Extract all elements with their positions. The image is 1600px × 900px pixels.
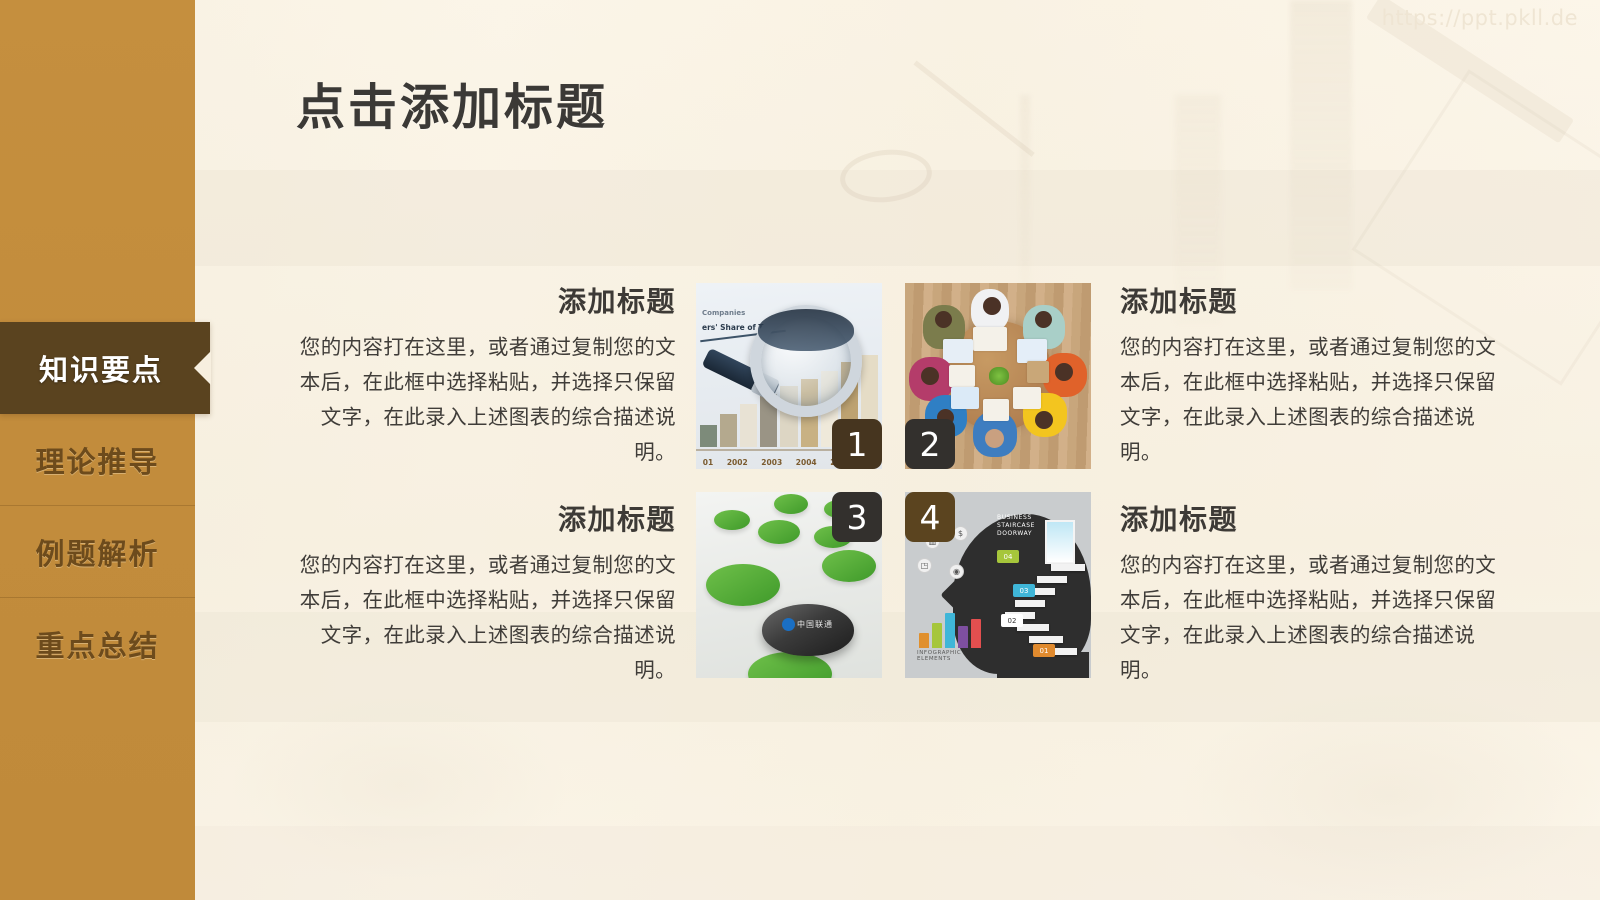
person-head-icon — [1035, 311, 1052, 328]
content-block-1-heading: 添加标题 — [296, 280, 676, 320]
paper-icon — [983, 399, 1009, 421]
person-head-icon — [921, 367, 939, 385]
sidebar: 知识要点 理论推导 例题解析 重点总结 — [0, 0, 195, 900]
sidebar-item-liti-jiexi[interactable]: 例题解析 — [0, 506, 195, 598]
sidebar-item-zhongdian-zongjie[interactable]: 重点总结 — [0, 598, 195, 690]
stair-step-icon — [1037, 576, 1067, 583]
content-block-4-body: 您的内容打在这里，或者通过复制您的文本后，在此框中选择粘贴，并选择只保留文字，在… — [1120, 548, 1500, 688]
chart-year-label: 2003 — [761, 458, 782, 467]
content-block-1-body: 您的内容打在这里，或者通过复制您的文本后，在此框中选择粘贴，并选择只保留文字，在… — [296, 330, 676, 470]
doorway-icon — [1045, 520, 1075, 564]
infographic-title: BUSINESSSTAIRCASEDOORWAY — [997, 514, 1035, 538]
paper-icon — [1017, 339, 1047, 363]
person-head-icon — [985, 429, 1004, 448]
sidebar-item-lilun-tuidao[interactable]: 理论推导 — [0, 414, 195, 506]
content-block-3-thumbnail[interactable]: 中国联通 3 — [696, 492, 882, 678]
infographic-bar-chart — [919, 608, 981, 648]
content-block-1-text: 添加标题 您的内容打在这里，或者通过复制您的文本后，在此框中选择粘贴，并选择只保… — [296, 280, 676, 470]
person-head-icon — [1035, 411, 1053, 429]
infographic-step-tag: 03 — [1013, 584, 1035, 597]
content-block-1-badge: 1 — [832, 419, 882, 469]
content-block-3-heading: 添加标题 — [296, 498, 676, 538]
content-block-3-text: 添加标题 您的内容打在这里，或者通过复制您的文本后，在此框中选择粘贴，并选择只保… — [296, 498, 676, 688]
person-head-icon — [983, 297, 1001, 315]
paper-icon — [951, 387, 979, 409]
green-device-icon — [748, 652, 832, 678]
green-device-icon — [714, 510, 750, 530]
stair-step-icon — [1051, 564, 1085, 571]
paper-icon — [1013, 387, 1041, 409]
magnifier-lens-shade-icon — [758, 309, 854, 351]
sidebar-item-label: 重点总结 — [35, 623, 159, 665]
content-block-1-thumbnail[interactable]: Companies ers' Share of Tot 01 — [696, 283, 882, 469]
paper-icon — [973, 327, 1007, 351]
content-block-4-heading: 添加标题 — [1120, 498, 1500, 538]
content-block-2-heading: 添加标题 — [1120, 280, 1500, 320]
green-device-icon — [822, 550, 876, 582]
paper-icon — [949, 365, 975, 387]
person-head-icon — [1055, 363, 1073, 381]
person-head-icon — [935, 311, 952, 328]
infographic-step-tag: 01 — [1033, 644, 1055, 657]
sidebar-item-zhishiyaodian[interactable]: 知识要点 — [0, 322, 210, 414]
sidebar-nav-list: 知识要点 理论推导 例题解析 重点总结 — [0, 322, 195, 690]
chart-year-label: 2002 — [727, 458, 748, 467]
sidebar-item-label: 理论推导 — [35, 439, 159, 481]
content-block-3-badge: 3 — [832, 492, 882, 542]
infographic-caption: INFOGRAPHICELEMENTS — [917, 650, 961, 662]
content-block-3-body: 您的内容打在这里，或者通过复制您的文本后，在此框中选择粘贴，并选择只保留文字，在… — [296, 548, 676, 688]
infographic-step-tag: 04 — [997, 550, 1019, 563]
infographic-step-tag: 02 — [1001, 614, 1023, 627]
sidebar-item-label: 知识要点 — [39, 347, 163, 389]
paper-icon — [943, 339, 973, 363]
graph-icon: ◳ — [917, 558, 932, 573]
chart-year-label: 2004 — [796, 458, 817, 467]
chart-year-label: 01 — [703, 458, 713, 467]
paper-icon — [1027, 361, 1049, 383]
meeting-plant-icon — [989, 367, 1009, 385]
black-mouse-icon — [762, 604, 854, 656]
content-block-2-body: 您的内容打在这里，或者通过复制您的文本后，在此框中选择粘贴，并选择只保留文字，在… — [1120, 330, 1500, 470]
content-block-2-badge: 2 — [905, 419, 955, 469]
green-device-icon — [774, 494, 808, 514]
content-block-4-text: 添加标题 您的内容打在这里，或者通过复制您的文本后，在此框中选择粘贴，并选择只保… — [1120, 498, 1500, 688]
green-device-icon — [758, 520, 800, 544]
content-block-4-badge: 4 — [905, 492, 955, 542]
content-block-2-thumbnail[interactable]: 2 — [905, 283, 1091, 469]
slide-root: https://ppt.pkll.de 知识要点 理论推导 例题解析 重点总结 … — [0, 0, 1600, 900]
brand-logo-icon — [782, 618, 795, 631]
lightbulb-icon: ◉ — [949, 564, 964, 579]
stair-step-icon — [1029, 636, 1063, 643]
dollar-icon: $ — [953, 526, 968, 541]
content-area: 添加标题 您的内容打在这里，或者通过复制您的文本后，在此框中选择粘贴，并选择只保… — [195, 0, 1600, 900]
chart-label-a: Companies — [702, 309, 745, 317]
brand-logo-text: 中国联通 — [797, 619, 833, 630]
stair-step-icon — [1015, 600, 1045, 607]
content-block-2-text: 添加标题 您的内容打在这里，或者通过复制您的文本后，在此框中选择粘贴，并选择只保… — [1120, 280, 1500, 470]
content-block-4-thumbnail[interactable]: BUSINESSSTAIRCASEDOORWAY 04 03 02 01 ▥ $… — [905, 492, 1091, 678]
chevron-left-icon — [194, 351, 211, 385]
sidebar-item-label: 例题解析 — [35, 531, 159, 573]
green-device-icon — [706, 564, 780, 606]
